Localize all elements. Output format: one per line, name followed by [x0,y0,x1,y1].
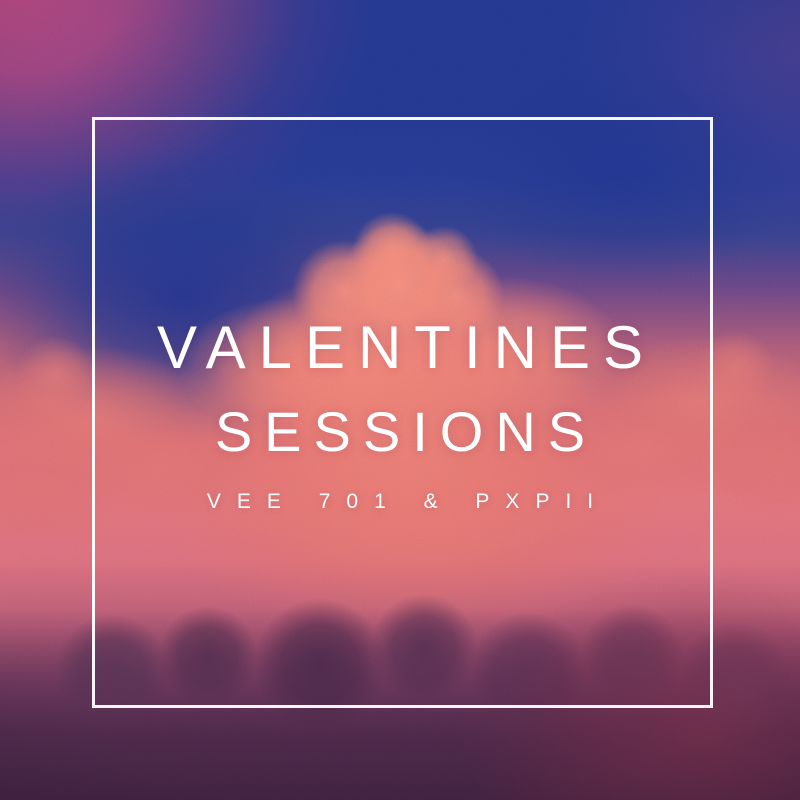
poster-title-line-1: VALENTINES [0,318,800,378]
poster-subtitle: VEE 701 & PXPII [0,490,800,514]
poster: VALENTINES SESSIONS VEE 701 & PXPII [0,0,800,800]
poster-title-line-2: SESSIONS [0,404,800,460]
poster-text-block: VALENTINES SESSIONS VEE 701 & PXPII [0,318,800,514]
